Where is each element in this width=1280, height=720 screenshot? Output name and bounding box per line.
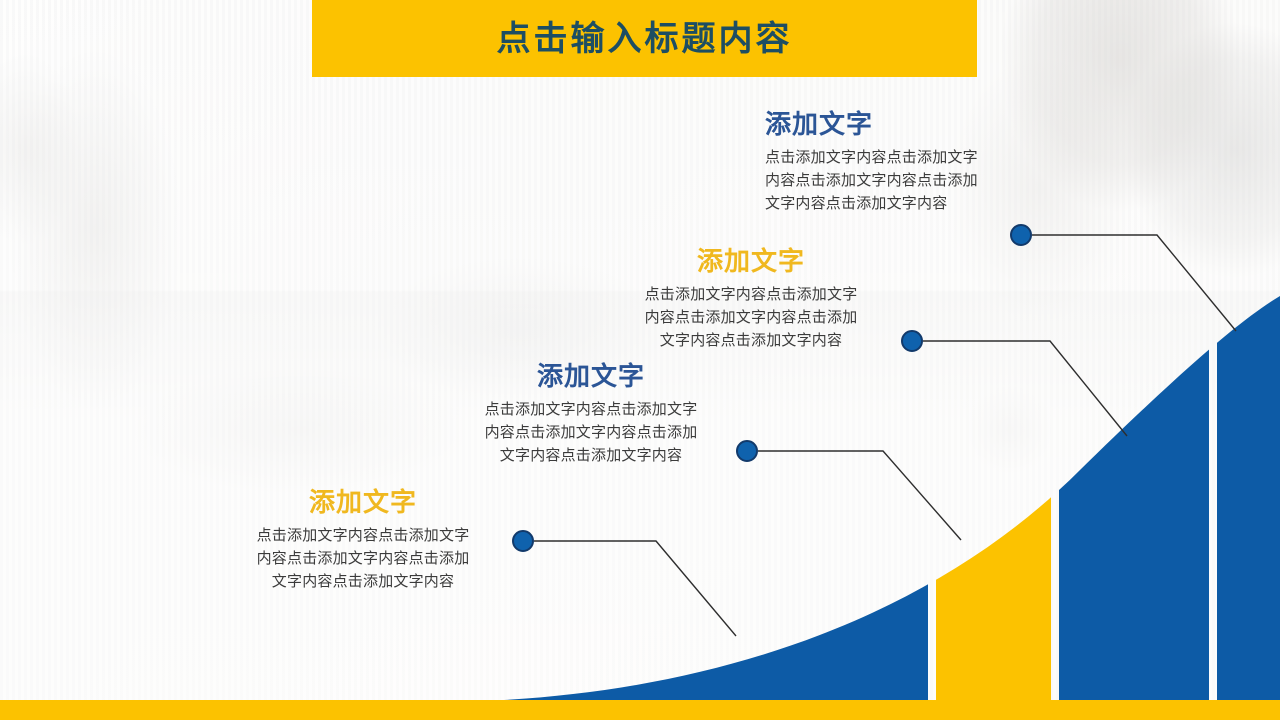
- text-block-3-body: 点击添加文字内容点击添加文字 内容点击添加文字内容点击添加 文字内容点击添加文字…: [450, 398, 732, 468]
- text-block-3-heading: 添加文字: [450, 362, 732, 391]
- presentation-slide: 点击输入标题内容 添加文字 点击添加文字内容点击添加文字 内容点击添加文字内容点…: [0, 0, 1280, 720]
- body-line: 文字内容点击添加文字内容: [610, 329, 892, 352]
- body-line: 内容点击添加文字内容点击添加: [765, 169, 1040, 192]
- body-line: 内容点击添加文字内容点击添加: [222, 547, 504, 570]
- body-line: 点击添加文字内容点击添加文字: [450, 398, 732, 421]
- text-block-1-body: 点击添加文字内容点击添加文字 内容点击添加文字内容点击添加 文字内容点击添加文字…: [765, 146, 1040, 216]
- connector-dot-1[interactable]: [1010, 224, 1032, 246]
- text-block-4-heading: 添加文字: [222, 488, 504, 517]
- body-line: 文字内容点击添加文字内容: [765, 192, 1040, 215]
- background-white-veil: [0, 0, 1280, 720]
- page-title: 点击输入标题内容: [497, 22, 793, 56]
- connector-dot-3[interactable]: [736, 440, 758, 462]
- body-line: 点击添加文字内容点击添加文字: [222, 524, 504, 547]
- body-line: 点击添加文字内容点击添加文字: [610, 283, 892, 306]
- connector-dot-2[interactable]: [901, 330, 923, 352]
- text-block-1-heading: 添加文字: [765, 110, 1040, 139]
- text-block-2[interactable]: 添加文字 点击添加文字内容点击添加文字 内容点击添加文字内容点击添加 文字内容点…: [610, 247, 892, 352]
- text-block-2-body: 点击添加文字内容点击添加文字 内容点击添加文字内容点击添加 文字内容点击添加文字…: [610, 283, 892, 353]
- text-block-4[interactable]: 添加文字 点击添加文字内容点击添加文字 内容点击添加文字内容点击添加 文字内容点…: [222, 488, 504, 593]
- body-line: 内容点击添加文字内容点击添加: [610, 306, 892, 329]
- text-block-1[interactable]: 添加文字 点击添加文字内容点击添加文字 内容点击添加文字内容点击添加 文字内容点…: [765, 110, 1040, 215]
- text-block-4-body: 点击添加文字内容点击添加文字 内容点击添加文字内容点击添加 文字内容点击添加文字…: [222, 524, 504, 594]
- body-line: 文字内容点击添加文字内容: [222, 570, 504, 593]
- connector-dot-4[interactable]: [512, 530, 534, 552]
- slide-title-banner: 点击输入标题内容: [312, 0, 977, 77]
- text-block-3[interactable]: 添加文字 点击添加文字内容点击添加文字 内容点击添加文字内容点击添加 文字内容点…: [450, 362, 732, 467]
- body-line: 文字内容点击添加文字内容: [450, 444, 732, 467]
- body-line: 点击添加文字内容点击添加文字: [765, 146, 1040, 169]
- body-line: 内容点击添加文字内容点击添加: [450, 421, 732, 444]
- text-block-2-heading: 添加文字: [610, 247, 892, 276]
